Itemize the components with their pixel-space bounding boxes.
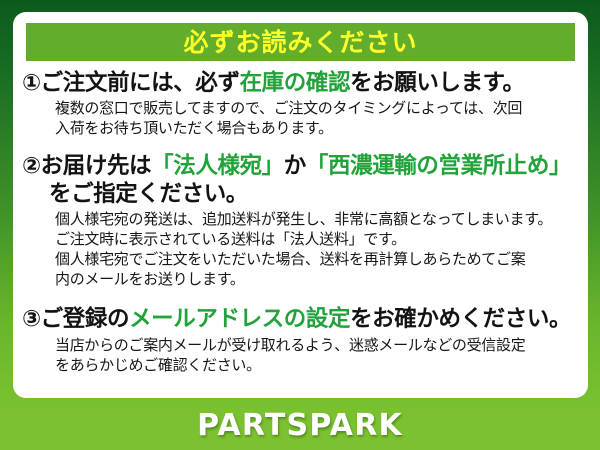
notice-item-body-line: 当店からのご案内メールが受け取れるよう、迷惑メールなどの受信設定 (55, 336, 588, 356)
notice-item-body-line: をあらかじめご確認ください。 (55, 356, 588, 376)
brand-footer: PARTSPARK (0, 400, 600, 450)
notice-item-highlight: 在庫の確認 (240, 70, 351, 96)
notice-item: ②お届け先は「法人様宛」か「西濃運輸の営業所止め」をご指定ください。個人様宅宛の… (13, 153, 588, 290)
notice-item-marker: ② (22, 153, 41, 179)
notice-item: ①ご注文前には、必ず在庫の確認をお願いします。複数の窓口で販売してますので、ご注… (13, 70, 588, 139)
brand-name: PARTSPARK (197, 408, 403, 443)
notice-item-body-line: 複数の窓口で販売してますので、ご注文のタイミングによっては、次回 (55, 99, 588, 119)
notice-item-heading-text: ご登録の (41, 306, 129, 332)
notice-item-heading-text: をお願いします。 (350, 70, 525, 96)
notice-item-highlight: メールアドレスの設定 (129, 306, 350, 332)
notice-item-marker: ③ (22, 306, 41, 332)
notice-item-heading: ③ご登録のメールアドレスの設定をお確かめください。 (13, 306, 588, 333)
notice-item-heading: ①ご注文前には、必ず在庫の確認をお願いします。 (13, 70, 588, 97)
notice-item-list: ①ご注文前には、必ず在庫の確認をお願いします。複数の窓口で販売してますので、ご注… (13, 70, 588, 376)
notice-item-body: 複数の窓口で販売してますので、ご注文のタイミングによっては、次回入荷をお待ち頂い… (13, 97, 588, 139)
notice-item-body-line: 内のメールをお送りします。 (55, 270, 588, 290)
notice-card: 必ずお読みください ①ご注文前には、必ず在庫の確認をお願いします。複数の窓口で販… (13, 12, 588, 398)
notice-item-highlight: 「西濃運輸の営業所止め」 (306, 153, 571, 179)
notice-item-body-line: 入荷をお待ち頂いただく場合もあります。 (55, 119, 588, 139)
notice-item-marker: ① (22, 70, 41, 96)
notice-item-heading-text: ご注文前には、必ず (41, 70, 240, 96)
notice-item-heading-text: お届け先は (41, 153, 152, 179)
notice-item-body: 個人様宅宛の発送は、追加送料が発生し、非常に高額となってしまいます。ご注文時に表… (13, 208, 588, 290)
notice-item-body: 当店からのご案内メールが受け取れるよう、迷惑メールなどの受信設定をあらかじめご確… (13, 334, 588, 376)
notice-item-highlight: 「法人様宛」 (151, 153, 284, 179)
notice-item-body-line: 個人様宅宛でご注文をいただいた場合、送料を再計算しあらためてご案 (55, 250, 588, 270)
notice-banner: 必ずお読みください ①ご注文前には、必ず在庫の確認をお願いします。複数の窓口で販… (0, 0, 600, 450)
notice-item: ③ご登録のメールアドレスの設定をお確かめください。当店からのご案内メールが受け取… (13, 306, 588, 375)
notice-title: 必ずお読みください (183, 30, 417, 55)
notice-item-heading-text: か (284, 153, 306, 179)
notice-item-heading: ②お届け先は「法人様宛」か「西濃運輸の営業所止め」 (13, 153, 588, 180)
notice-item-body-line: 個人様宅宛の発送は、追加送料が発生し、非常に高額となってしまいます。 (55, 210, 588, 230)
notice-item-body-line: ご注文時に表示されている送料は「法人送料」です。 (55, 230, 588, 250)
notice-item-heading-text: をお確かめください。 (350, 306, 571, 332)
notice-title-bar: 必ずお読みください (26, 23, 575, 61)
notice-item-heading-continuation: をご指定ください。 (13, 181, 588, 208)
